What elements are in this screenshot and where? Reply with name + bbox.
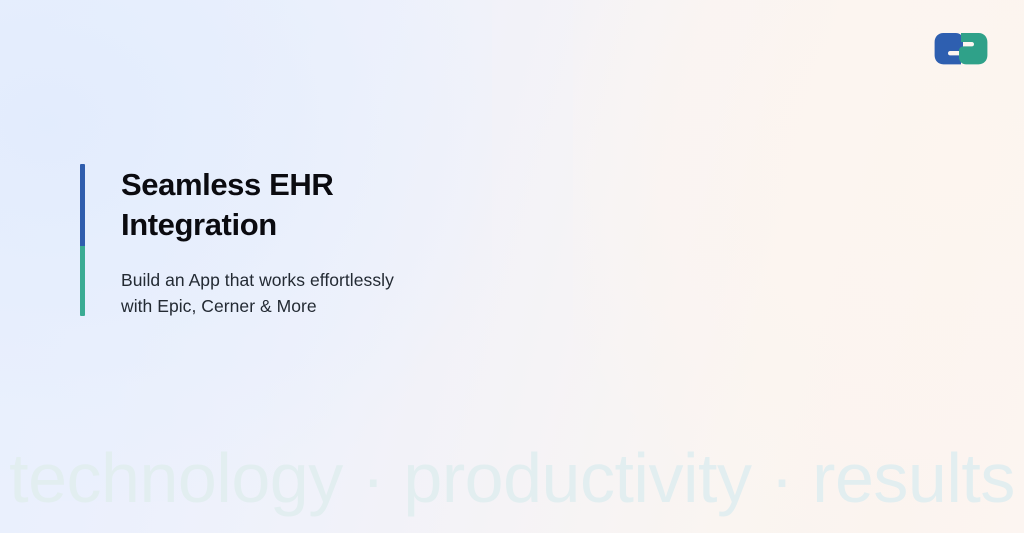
page-subtitle: Build an App that works effortlessly wit… bbox=[121, 267, 394, 319]
promo-banner: technology · productivity · results Seam… bbox=[0, 0, 1024, 533]
ea-logo[interactable] bbox=[934, 33, 988, 73]
watermark-tagline: technology · productivity · results bbox=[0, 443, 1024, 513]
ea-logo-letter-a bbox=[959, 33, 987, 64]
subhead-line-1: Build an App that works effortlessly bbox=[121, 270, 394, 290]
ea-logo-letter-e bbox=[935, 33, 963, 64]
ea-logo-icon bbox=[934, 33, 988, 73]
accent-bar bbox=[80, 164, 85, 316]
headline-line-1: Seamless EHR bbox=[121, 167, 333, 202]
subhead-line-2: with Epic, Cerner & More bbox=[121, 296, 317, 316]
page-title: Seamless EHR Integration bbox=[121, 165, 394, 245]
hero-copy-block: Seamless EHR Integration Build an App th… bbox=[80, 164, 394, 319]
hero-text-group: Seamless EHR Integration Build an App th… bbox=[121, 164, 394, 319]
headline-line-2: Integration bbox=[121, 207, 277, 242]
